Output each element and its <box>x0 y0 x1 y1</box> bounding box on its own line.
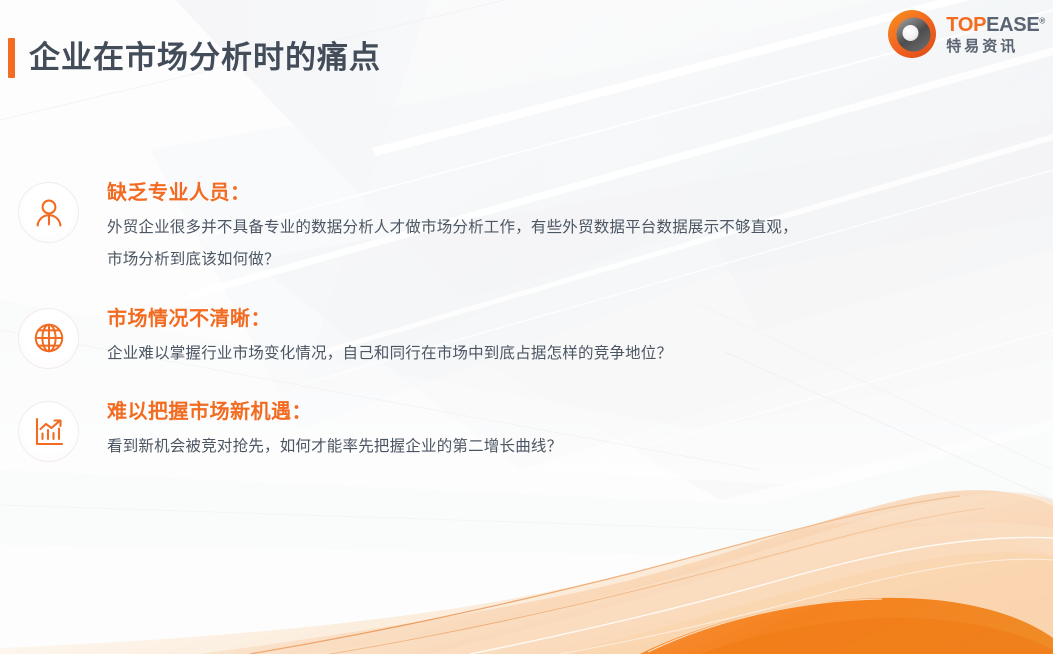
point-heading-2: 市场情况不清晰： <box>107 304 672 334</box>
logo-brand-cn: 特易资讯 <box>946 39 1045 54</box>
point-heading-text-2: 市场情况不清晰 <box>107 308 251 330</box>
point-icon-circle-1 <box>18 182 79 243</box>
list-item: 市场情况不清晰： 企业难以掌握行业市场变化情况，自己和同行在市场中到底占据怎样的… <box>0 304 1053 370</box>
point-text-line: 市场分析到底该如何做？ <box>107 244 798 276</box>
point-text-line: 看到新机会被竞对抢先，如何才能率先把握企业的第二增长曲线？ <box>107 431 562 463</box>
point-text-1: 外贸企业很多并不具备专业的数据分析人才做市场分析工作，有些外贸数据平台数据展示不… <box>107 212 798 276</box>
point-heading-text-3: 难以把握市场新机遇 <box>107 401 292 423</box>
slide-root: 企业在市场分析时的痛点 <box>0 0 1053 654</box>
logo-brand-ease: EASE <box>986 14 1039 36</box>
point-body-3: 难以把握市场新机遇： 看到新机会被竞对抢先，如何才能率先把握企业的第二增长曲线？ <box>107 397 562 463</box>
growth-chart-icon <box>32 415 66 449</box>
list-item: 难以把握市场新机遇： 看到新机会被竞对抢先，如何才能率先把握企业的第二增长曲线？ <box>0 397 1053 463</box>
point-heading-3: 难以把握市场新机遇： <box>107 397 562 427</box>
title-accent-bar <box>8 38 15 78</box>
list-item: 缺乏专业人员： 外贸企业很多并不具备专业的数据分析人才做市场分析工作，有些外贸数… <box>0 178 1053 276</box>
logo-wordmark: TOPEASE® 特易资讯 <box>946 15 1045 54</box>
point-heading-colon-2: ： <box>251 308 272 330</box>
logo-brand-top: TOP <box>946 14 986 36</box>
point-text-line: 外贸企业很多并不具备专业的数据分析人才做市场分析工作，有些外贸数据平台数据展示不… <box>107 212 798 244</box>
point-heading-1: 缺乏专业人员： <box>107 178 798 208</box>
user-icon <box>32 196 66 230</box>
page-title-group: 企业在市场分析时的痛点 <box>8 38 381 78</box>
point-heading-colon-1: ： <box>230 182 251 204</box>
point-heading-text-1: 缺乏专业人员 <box>107 182 230 204</box>
page-title: 企业在市场分析时的痛点 <box>29 38 381 78</box>
point-heading-colon-3: ： <box>292 401 313 423</box>
brand-logo: TOPEASE® 特易资讯 <box>887 9 1045 59</box>
point-body-1: 缺乏专业人员： 外贸企业很多并不具备专业的数据分析人才做市场分析工作，有些外贸数… <box>107 178 798 276</box>
point-body-2: 市场情况不清晰： 企业难以掌握行业市场变化情况，自己和同行在市场中到底占据怎样的… <box>107 304 672 370</box>
point-text-3: 看到新机会被竞对抢先，如何才能率先把握企业的第二增长曲线？ <box>107 431 562 463</box>
point-icon-circle-2 <box>18 308 79 369</box>
point-text-line: 企业难以掌握行业市场变化情况，自己和同行在市场中到底占据怎样的竞争地位？ <box>107 338 672 370</box>
point-text-2: 企业难以掌握行业市场变化情况，自己和同行在市场中到底占据怎样的竞争地位？ <box>107 338 672 370</box>
logo-brand-en: TOPEASE® <box>946 15 1045 35</box>
slide-header: 企业在市场分析时的痛点 <box>0 0 1053 96</box>
pain-points-list: 缺乏专业人员： 外贸企业很多并不具备专业的数据分析人才做市场分析工作，有些外贸数… <box>0 178 1053 463</box>
logo-registered-mark: ® <box>1039 16 1045 25</box>
point-icon-circle-3 <box>18 401 79 462</box>
globe-icon <box>32 321 66 355</box>
topease-ring-logo-icon <box>887 9 937 59</box>
